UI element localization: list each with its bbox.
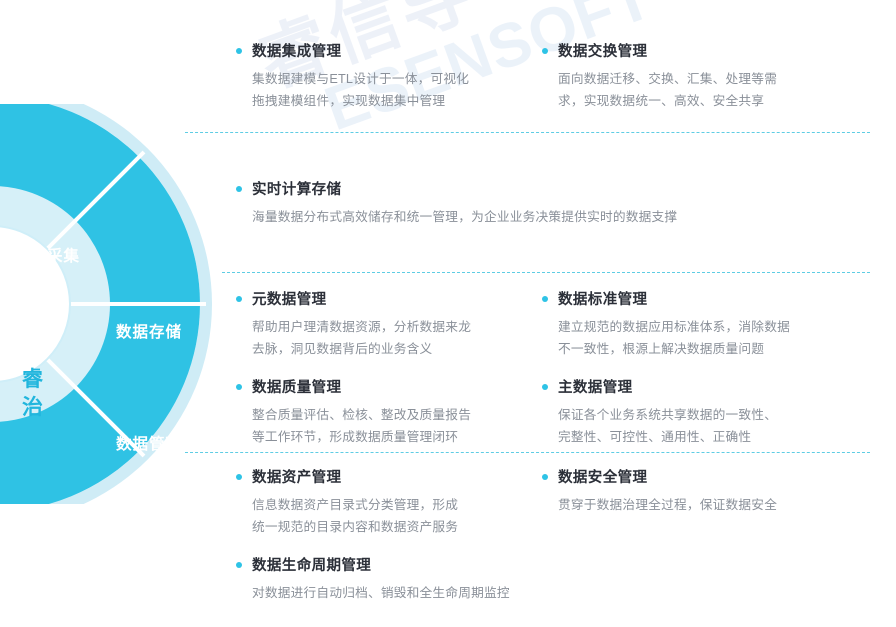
wheel-label-data-storage[interactable]: 数据存储 [116,320,182,342]
section-realtime-col: 实时计算存储 海量数据分布式高效储存和统一管理，为企业业务决策提供实时的数据支撑 [236,178,896,228]
item-data-security-management[interactable]: 数据安全管理 贯穿于数据治理全过程，保证数据安全 [542,466,848,516]
item-description: 帮助用户理清数据资源，分析数据来龙 去脉，洞见数据背后的业务含义 [252,316,542,360]
item-master-data-management[interactable]: 主数据管理 保证各个业务系统共享数据的一致性、 完整性、可控性、通用性、正确性 [542,376,848,448]
bullet-icon [236,296,242,302]
item-title: 数据质量管理 [252,376,341,397]
item-head: 主数据管理 [542,376,848,397]
item-head: 数据生命周期管理 [236,554,542,575]
item-data-lifecycle-management[interactable]: 数据生命周期管理 对数据进行自动归档、销毁和全生命周期监控 [236,554,542,604]
capability-wheel-diagram: 睿 治 数据采集 数据存储 数据管理 数据服务 [0,104,232,504]
item-head: 数据资产管理 [236,466,542,487]
item-data-quality-management[interactable]: 数据质量管理 整合质量评估、检核、整改及质量报告 等工作环节，形成数据质量管理闭… [236,376,542,448]
item-head: 实时计算存储 [236,178,896,199]
item-data-integration-management[interactable]: 数据集成管理 集数据建模与ETL设计于一体，可视化 拖拽建模组件，实现数据集中管… [236,40,542,112]
item-data-standard-management[interactable]: 数据标准管理 建立规范的数据应用标准体系，消除数据 不一致性，根源上解决数据质量… [542,288,848,360]
item-title: 数据标准管理 [558,288,647,309]
item-metadata-management[interactable]: 元数据管理 帮助用户理清数据资源，分析数据来龙 去脉，洞见数据背后的业务含义 [236,288,542,360]
section-integration: 数据集成管理 集数据建模与ETL设计于一体，可视化 拖拽建模组件，实现数据集中管… [236,40,896,112]
item-description: 贯穿于数据治理全过程，保证数据安全 [558,494,848,516]
bullet-icon [236,474,242,480]
item-realtime-compute-storage[interactable]: 实时计算存储 海量数据分布式高效储存和统一管理，为企业业务决策提供实时的数据支撑 [236,178,896,228]
item-data-asset-management[interactable]: 数据资产管理 信息数据资产目录式分类管理，形成 统一规范的目录内容和数据资产服务 [236,466,542,538]
section-governance-col-left: 元数据管理 帮助用户理清数据资源，分析数据来龙 去脉，洞见数据背后的业务含义 数… [236,288,542,448]
wheel-label-data-service[interactable]: 数据服务 [14,508,80,530]
item-data-exchange-management[interactable]: 数据交换管理 面向数据迁移、交换、汇集、处理等需 求，实现数据统一、高效、安全共… [542,40,848,112]
section-assets-col-left: 数据资产管理 信息数据资产目录式分类管理，形成 统一规范的目录内容和数据资产服务… [236,466,542,604]
item-description: 整合质量评估、检核、整改及质量报告 等工作环节，形成数据质量管理闭环 [252,404,542,448]
bullet-icon [542,296,548,302]
bullet-icon [236,384,242,390]
bullet-icon [236,48,242,54]
bullet-icon [542,474,548,480]
item-head: 数据质量管理 [236,376,542,397]
item-description: 建立规范的数据应用标准体系，消除数据 不一致性，根源上解决数据质量问题 [558,316,848,360]
section-governance-col-right: 数据标准管理 建立规范的数据应用标准体系，消除数据 不一致性，根源上解决数据质量… [542,288,848,448]
item-title: 数据安全管理 [558,466,647,487]
bullet-icon [236,562,242,568]
wheel-core-char-1: 睿 [22,366,66,394]
section-governance: 元数据管理 帮助用户理清数据资源，分析数据来龙 去脉，洞见数据背后的业务含义 数… [236,288,896,448]
item-description: 保证各个业务系统共享数据的一致性、 完整性、可控性、通用性、正确性 [558,404,848,448]
item-title: 元数据管理 [252,288,327,309]
wheel-core-char-2: 治 [22,394,66,422]
item-title: 数据集成管理 [252,40,341,61]
section-integration-col-left: 数据集成管理 集数据建模与ETL设计于一体，可视化 拖拽建模组件，实现数据集中管… [236,40,542,112]
section-integration-col-right: 数据交换管理 面向数据迁移、交换、汇集、处理等需 求，实现数据统一、高效、安全共… [542,40,848,112]
item-title: 数据交换管理 [558,40,647,61]
item-title: 数据生命周期管理 [252,554,371,575]
item-title: 数据资产管理 [252,466,341,487]
item-description: 集数据建模与ETL设计于一体，可视化 拖拽建模组件，实现数据集中管理 [252,68,542,112]
item-head: 数据安全管理 [542,466,848,487]
capability-list: 数据集成管理 集数据建模与ETL设计于一体，可视化 拖拽建模组件，实现数据集中管… [236,0,896,627]
item-title: 实时计算存储 [252,178,341,199]
item-head: 数据标准管理 [542,288,848,309]
item-description: 信息数据资产目录式分类管理，形成 统一规范的目录内容和数据资产服务 [252,494,542,538]
wheel-label-data-management[interactable]: 数据管理 [116,432,182,454]
wheel-core-label: 睿 治 [22,366,66,422]
wheel-label-data-collection[interactable]: 数据采集 [14,244,80,266]
item-title: 主数据管理 [558,376,633,397]
bullet-icon [542,384,548,390]
bullet-icon [542,48,548,54]
section-realtime: 实时计算存储 海量数据分布式高效储存和统一管理，为企业业务决策提供实时的数据支撑 [236,178,896,228]
section-assets-col-right: 数据安全管理 贯穿于数据治理全过程，保证数据安全 [542,466,848,604]
item-description: 对数据进行自动归档、销毁和全生命周期监控 [252,582,542,604]
bullet-icon [236,186,242,192]
item-head: 数据集成管理 [236,40,542,61]
item-head: 数据交换管理 [542,40,848,61]
item-description: 海量数据分布式高效储存和统一管理，为企业业务决策提供实时的数据支撑 [252,206,896,228]
item-head: 元数据管理 [236,288,542,309]
section-assets: 数据资产管理 信息数据资产目录式分类管理，形成 统一规范的目录内容和数据资产服务… [236,466,896,604]
item-description: 面向数据迁移、交换、汇集、处理等需 求，实现数据统一、高效、安全共享 [558,68,848,112]
